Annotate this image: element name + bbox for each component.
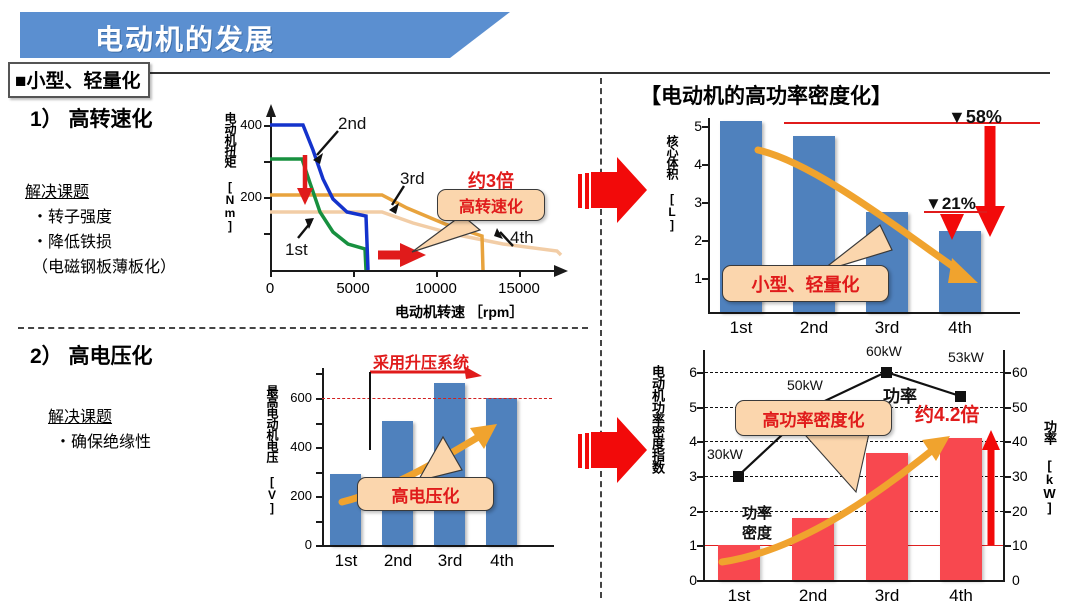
chart-core-volume: 核心体积 [L] 5 4 3 2 1 1st 2nd 3rd 4th	[0, 0, 1074, 340]
chart4-power-label-4th: 53kW	[948, 349, 984, 365]
chart4-marker-3rd	[881, 367, 892, 378]
chart4-power-label-1st: 30kW	[707, 446, 743, 462]
chart4-series-label-density-1: 功率	[742, 502, 772, 523]
chart4-power-series	[0, 340, 1074, 602]
chart4-red-note: 约4.2倍	[915, 400, 979, 427]
slide: 电动机的发展 ■小型、轻量化 1） 高转速化 解决课题 ・转子强度 ・降低铁损 …	[0, 0, 1074, 602]
chart4-marker-1st	[733, 471, 744, 482]
chart3-delta-58: ▼58%	[948, 107, 1002, 128]
chart4-callout: 高功率密度化	[735, 400, 892, 436]
chart3-overlays	[0, 0, 1074, 340]
chart3-delta-21: ▼21%	[925, 194, 976, 214]
chart3-callout: 小型、轻量化	[722, 265, 889, 302]
chart4-series-label-density-2: 密度	[742, 522, 772, 543]
chart-power-density: 电动机功率密度指数 功率 [kW] 6 5 4 3 2 1 0 60 50 40…	[0, 340, 1074, 602]
chart4-power-label-3rd: 60kW	[866, 343, 902, 359]
chart4-power-label-2nd: 50kW	[787, 377, 823, 393]
